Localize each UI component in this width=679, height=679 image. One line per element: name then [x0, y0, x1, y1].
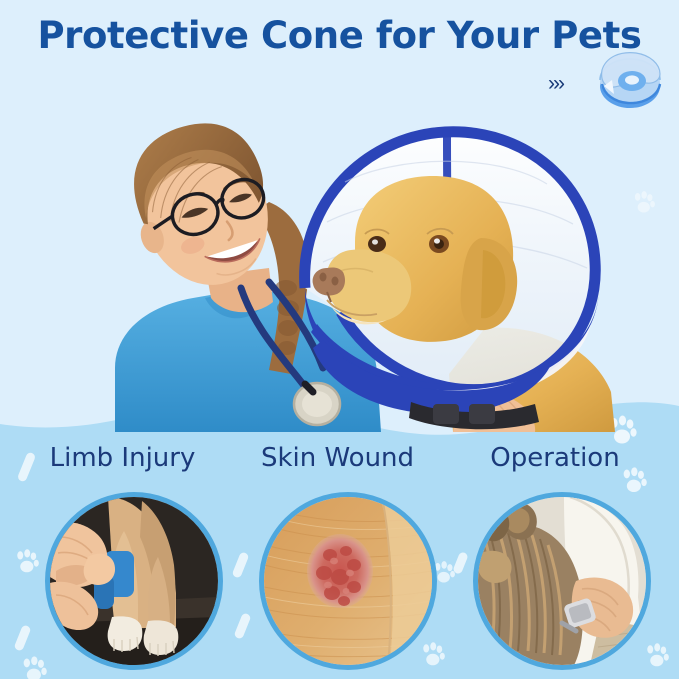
use-case-labels: Limb Injury Skin Wound Operation — [0, 443, 679, 483]
vet-with-labrador-wearing-cone — [55, 92, 625, 432]
product-poster: Protective Cone for Your Pets ››› — [0, 0, 679, 679]
use-case-label-limb-injury: Limb Injury — [20, 443, 225, 473]
page-title: Protective Cone for Your Pets — [0, 14, 679, 57]
use-case-photo-operation — [473, 492, 651, 670]
use-case-photo-skin-wound — [259, 492, 437, 670]
use-case-label-operation: Operation — [450, 443, 660, 473]
use-case-photo-limb-injury — [45, 492, 223, 670]
use-case-label-skin-wound: Skin Wound — [235, 443, 440, 473]
